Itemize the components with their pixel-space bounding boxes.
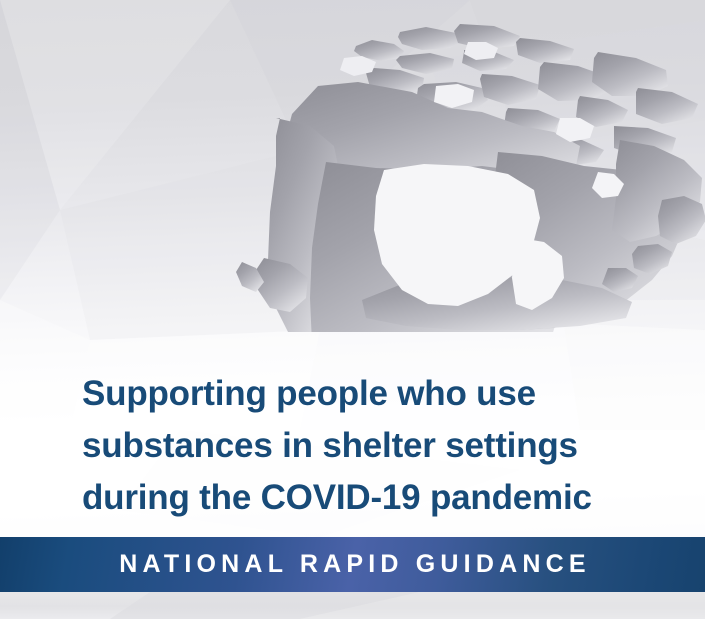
page-title: Supporting people who use substances in … [82, 368, 642, 524]
banner-label: NATIONAL RAPID GUIDANCE [114, 550, 590, 579]
page-title-line-3: during the COVID-19 pandemic [82, 472, 642, 524]
national-rapid-guidance-banner: NATIONAL RAPID GUIDANCE [0, 537, 705, 592]
canada-map-icon [168, 22, 705, 332]
page-title-line-2: substances in shelter settings [82, 420, 642, 472]
page-title-line-1: Supporting people who use [82, 368, 642, 420]
footer-band-facet [0, 592, 705, 619]
guidance-cover-page: Supporting people who use substances in … [0, 0, 705, 619]
